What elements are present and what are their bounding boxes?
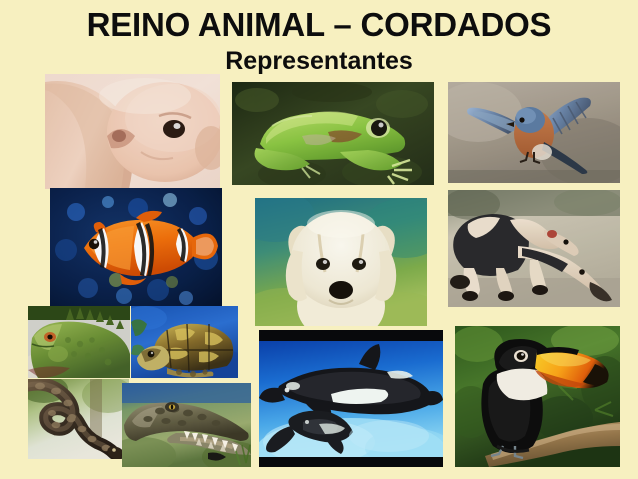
photo-amphibian-tree-frog	[232, 82, 434, 185]
slide-canvas: REINO ANIMAL – CORDADOS Representantes	[0, 0, 638, 479]
photo-mammal-puppy	[255, 198, 427, 326]
photo-reptile-python-snake	[28, 379, 129, 459]
photo-mammal-anteaters	[448, 190, 620, 307]
page-subtitle: Representantes	[0, 46, 638, 76]
photo-mammal-orca-whale	[259, 330, 443, 467]
photo-reptile-iguana	[28, 306, 130, 378]
photo-bird-bluebird-flying	[448, 82, 620, 183]
photo-reptile-caiman	[122, 383, 251, 467]
photo-reptile-turtle	[131, 306, 238, 378]
photo-bird-toucan	[455, 326, 620, 467]
photo-fish-clownfish	[50, 188, 222, 306]
photo-mammal-baby-nursing	[45, 74, 220, 189]
page-title: REINO ANIMAL – CORDADOS	[0, 6, 638, 44]
